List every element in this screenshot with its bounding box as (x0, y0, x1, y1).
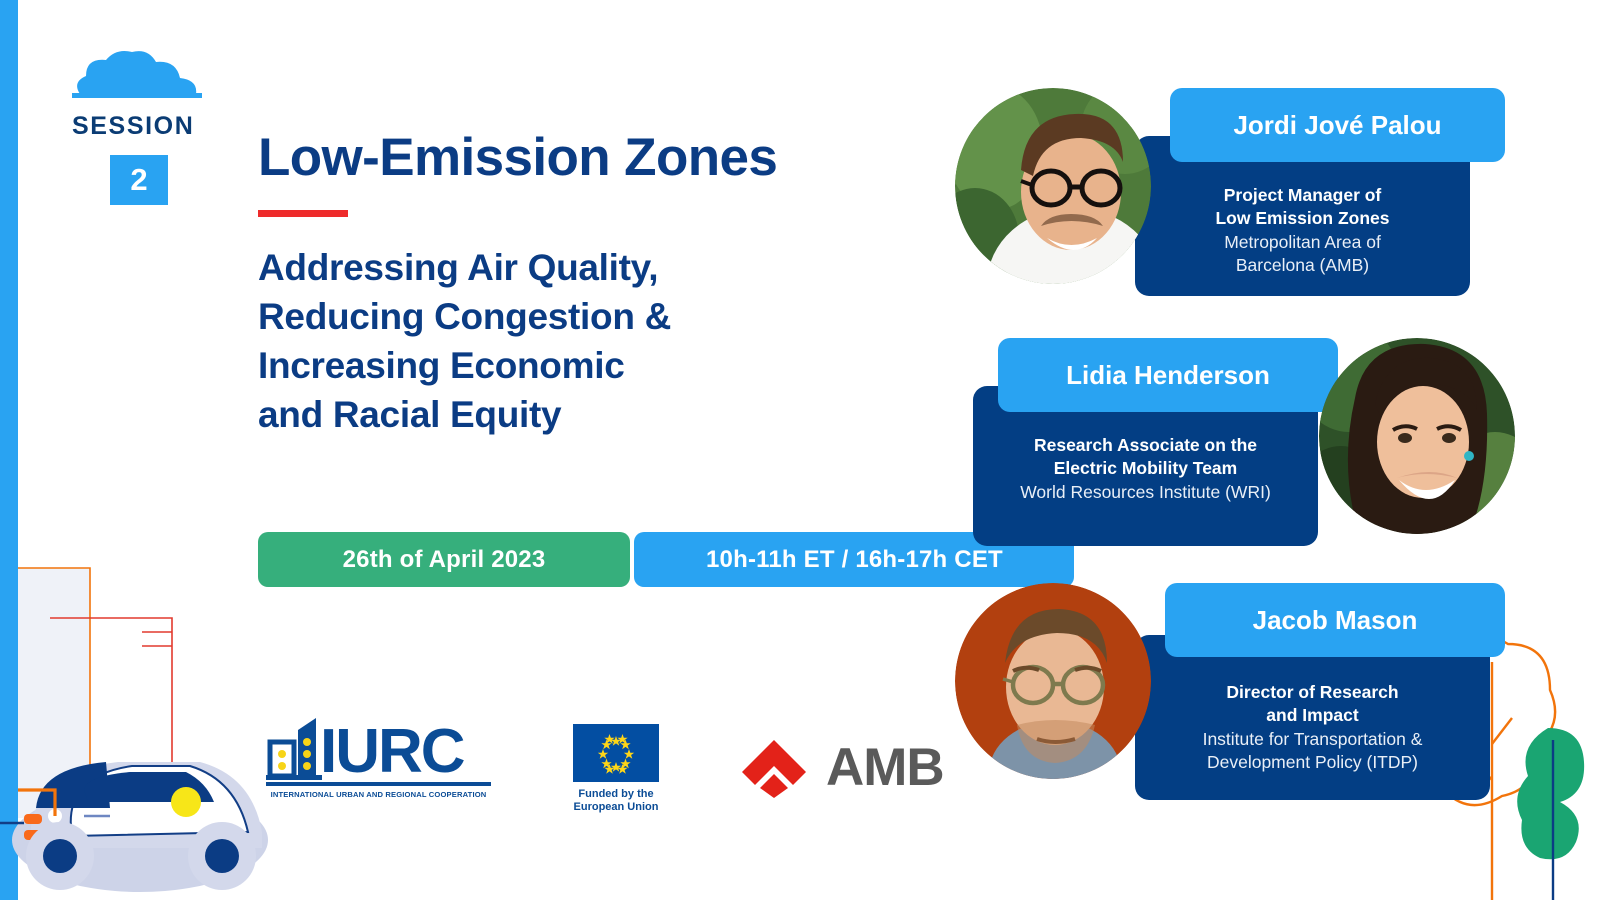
speaker-org-line: Barcelona (AMB) (1135, 254, 1470, 277)
speaker-photo (1319, 338, 1515, 534)
amb-wordmark: AMB (826, 737, 944, 798)
date-badge: 26th of April 2023 (258, 532, 630, 587)
iurc-tagline: INTERNATIONAL URBAN AND REGIONAL COOPERA… (266, 790, 491, 799)
speaker-card: Jacob Mason Director of Research and Imp… (955, 583, 1515, 798)
speaker-card: Jordi Jové Palou Project Manager of Low … (955, 88, 1515, 303)
logo-row: IURC INTERNATIONAL URBAN AND REGIONAL CO… (266, 718, 944, 815)
speaker-card: Lidia Henderson Research Associate on th… (955, 338, 1515, 553)
title-accent-rule (258, 210, 348, 217)
speaker-role-line: Project Manager of (1135, 184, 1470, 207)
buildings-icon (266, 718, 322, 780)
speaker-name: Jordi Jové Palou (1170, 88, 1505, 162)
speaker-name: Jacob Mason (1165, 583, 1505, 657)
page-subtitle: Addressing Air Quality, Reducing Congest… (258, 243, 898, 440)
speaker-role-line: Low Emission Zones (1135, 207, 1470, 230)
speaker-details: Research Associate on the Electric Mobil… (973, 434, 1318, 504)
session-number-badge: 2 (110, 155, 168, 205)
avatar (1319, 338, 1515, 534)
subtitle-line: and Racial Equity (258, 390, 898, 439)
headline-block: Low-Emission Zones Addressing Air Qualit… (258, 130, 898, 439)
iurc-wordmark: IURC (320, 723, 464, 780)
speaker-role-line: and Impact (1135, 704, 1490, 727)
speaker-photo (955, 88, 1151, 284)
eu-caption-line2: European Union (556, 801, 676, 814)
subtitle-line: Addressing Air Quality, (258, 243, 898, 292)
subtitle-line: Reducing Congestion & (258, 292, 898, 341)
speaker-details: Director of Research and Impact Institut… (1135, 681, 1490, 774)
speaker-org-line: Institute for Transportation & (1135, 728, 1490, 751)
subtitle-line: Increasing Economic (258, 341, 898, 390)
electric-car-illustration (0, 540, 300, 900)
eu-caption-line1: Funded by the (556, 788, 676, 801)
speaker-list: Jordi Jové Palou Project Manager of Low … (940, 0, 1600, 900)
session-label: SESSION (72, 112, 262, 141)
speaker-role-line: Electric Mobility Team (973, 457, 1318, 480)
speaker-name: Lidia Henderson (998, 338, 1338, 412)
avatar (955, 583, 1151, 779)
speaker-org-line: Metropolitan Area of (1135, 231, 1470, 254)
avatar (955, 88, 1151, 284)
eu-funding-logo: Funded by the European Union (556, 718, 676, 815)
page-title: Low-Emission Zones (258, 130, 898, 186)
cloud-icon (72, 48, 202, 100)
eu-caption: Funded by the European Union (556, 788, 676, 815)
speaker-role-line: Research Associate on the (973, 434, 1318, 457)
speaker-photo (955, 583, 1151, 779)
iurc-logo: IURC INTERNATIONAL URBAN AND REGIONAL CO… (266, 718, 491, 799)
eu-flag-icon (573, 724, 659, 782)
speaker-details: Project Manager of Low Emission Zones Me… (1135, 184, 1470, 277)
amb-logo: AMB (738, 736, 944, 798)
poster-canvas: SESSION 2 Low-Emission Zones Addressing … (0, 0, 1600, 900)
speaker-org-line: Development Policy (ITDP) (1135, 751, 1490, 774)
session-block: SESSION 2 (72, 48, 262, 205)
speaker-role-line: Director of Research (1135, 681, 1490, 704)
speaker-org-line: World Resources Institute (WRI) (973, 481, 1318, 504)
amb-chevron-icon (738, 736, 810, 798)
